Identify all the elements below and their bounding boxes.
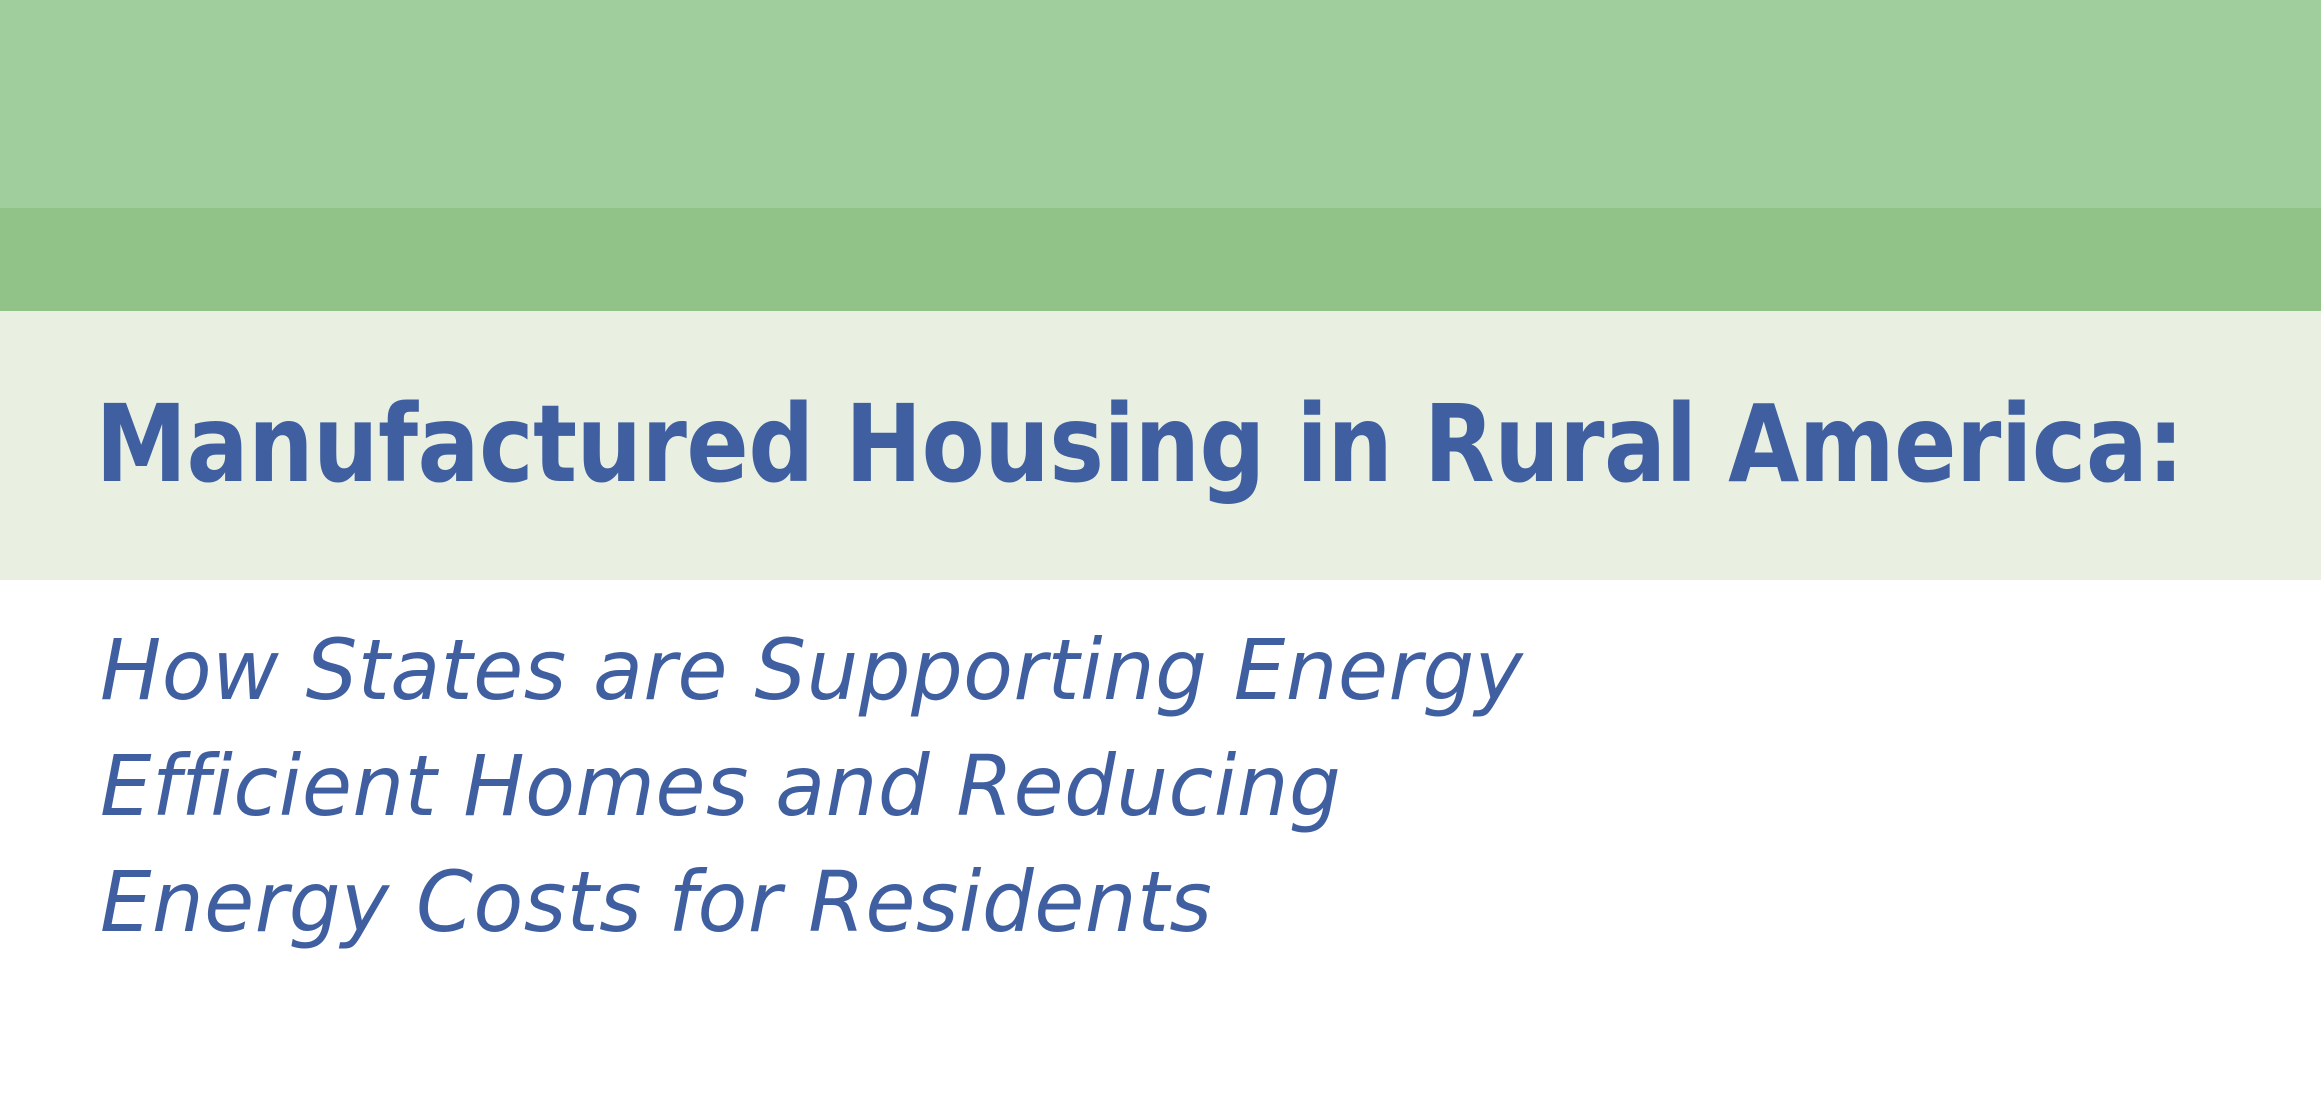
page-subtitle: How States are Supporting Energy Efficie… <box>0 580 2321 960</box>
top-green-band <box>0 0 2321 208</box>
subtitle-line-1: How States are Supporting Energy <box>100 612 2254 728</box>
title-slide: Manufactured Housing in Rural America: H… <box>0 0 2321 1102</box>
title-region: Manufactured Housing in Rural America: <box>0 311 2321 580</box>
page-title: Manufactured Housing in Rural America: <box>0 389 2184 501</box>
subtitle-line-3: Energy Costs for Residents <box>100 844 2254 960</box>
subtitle-line-2: Efficient Homes and Reducing <box>100 728 2254 844</box>
mid-green-band <box>0 208 2321 311</box>
subtitle-region: How States are Supporting Energy Efficie… <box>0 580 2321 1102</box>
